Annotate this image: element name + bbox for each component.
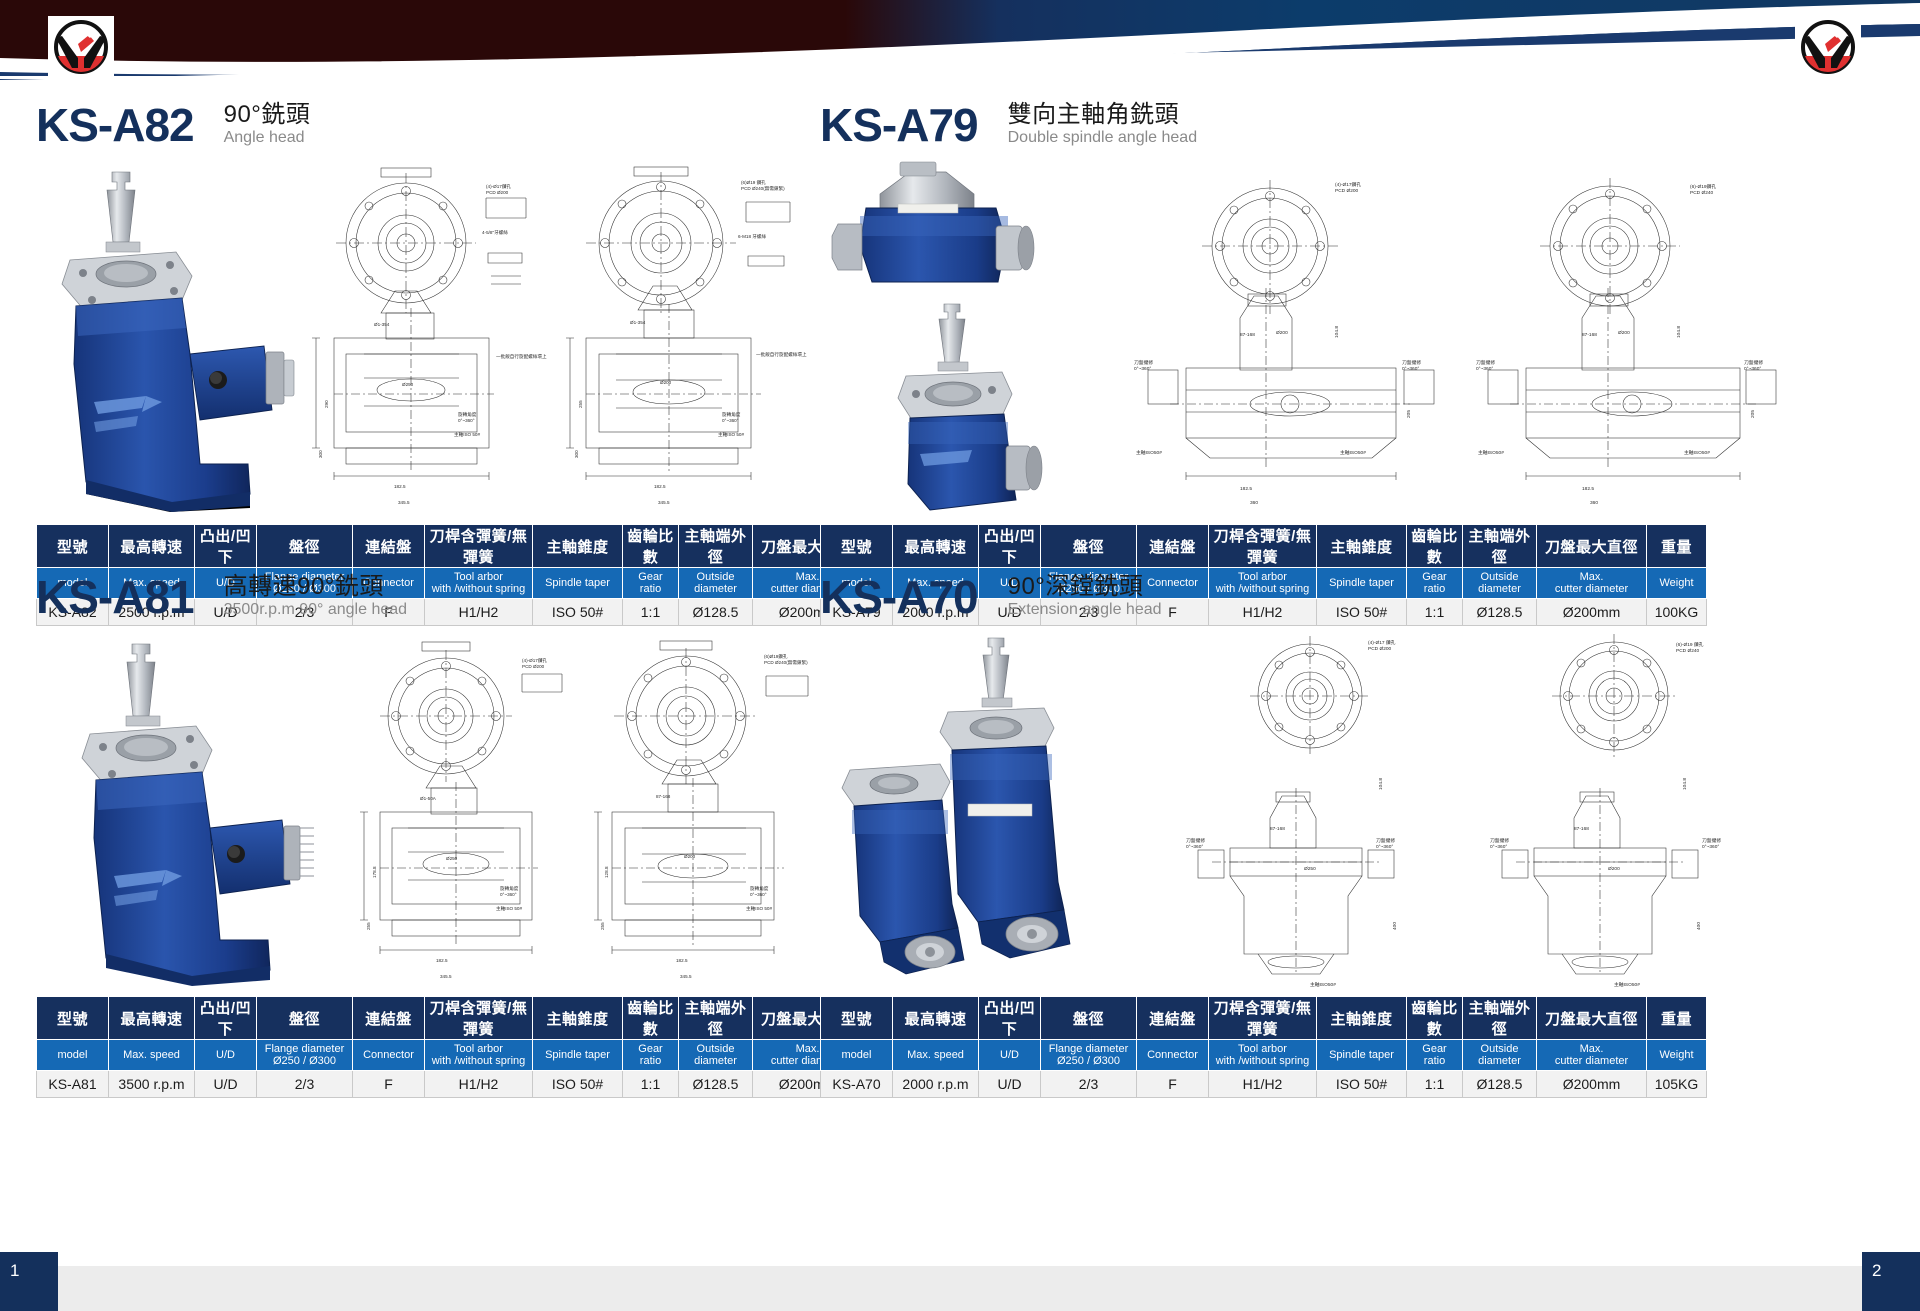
svg-text:Ø200: Ø200 xyxy=(1608,866,1620,872)
svg-text:104.8: 104.8 xyxy=(1334,326,1340,338)
product-title-en: Angle head xyxy=(224,128,311,147)
th-en-toolarbor: Tool arborwith /without spring xyxy=(425,1040,533,1071)
svg-text:刀盤擺修: 刀盤擺修 xyxy=(1744,359,1763,366)
page-number-right: 2 xyxy=(1862,1252,1920,1311)
svg-text:刀盤擺修: 刀盤擺修 xyxy=(1402,359,1421,366)
svg-text:(6)Ø19鑽孔: (6)Ø19鑽孔 xyxy=(764,653,788,660)
th-cn-outside: 主軸端外徑 xyxy=(679,997,753,1040)
cell-connector: F xyxy=(1137,1071,1209,1098)
svg-text:290: 290 xyxy=(324,400,329,408)
svg-text:主軸ISO 50#: 主軸ISO 50# xyxy=(746,905,772,912)
svg-text:Ø250: Ø250 xyxy=(1304,866,1316,872)
svg-text:主軸ISO50#: 主軸ISO50# xyxy=(1310,981,1336,988)
svg-text:主軸ISO50#: 主軸ISO50# xyxy=(1684,449,1710,456)
svg-text:旋轉角度: 旋轉角度 xyxy=(500,885,519,892)
product-photo xyxy=(820,632,1120,988)
cell-flange: 2/3 xyxy=(257,1071,353,1098)
svg-text:主軸ISO 50#: 主軸ISO 50# xyxy=(718,431,744,438)
th-en-model: model xyxy=(821,1040,893,1071)
svg-text:旋轉角度: 旋轉角度 xyxy=(458,411,477,418)
table-header-row-cn: 型號 最高轉速 凸出/凹下 盤徑 連結盤 刀桿含彈簧/無彈簧 主軸錐度 齒輪比數… xyxy=(37,997,923,1040)
svg-text:旋轉角度: 旋轉角度 xyxy=(722,411,741,418)
svg-text:104.8: 104.8 xyxy=(1682,778,1688,790)
svg-text:旋轉角度: 旋轉角度 xyxy=(750,885,769,892)
product-title-row: KS-A79 雙向主軸角銑頭 Double spindle angle head xyxy=(820,88,1890,148)
svg-text:0°~360°: 0°~360° xyxy=(458,418,475,423)
product-block-ks-a70: KS-A70 90°深鏜銑頭 Extension angle head xyxy=(820,560,1890,1098)
svg-text:PCD Ø240: PCD Ø240 xyxy=(1690,190,1714,196)
svg-text:PCD Ø240(無需鎖緊): PCD Ø240(無需鎖緊) xyxy=(764,659,808,666)
svg-text:(4)-Ø17 鑽孔: (4)-Ø17 鑽孔 xyxy=(1368,639,1396,646)
svg-text:Ø200: Ø200 xyxy=(1276,330,1288,336)
cell-model: KS-A81 xyxy=(37,1071,109,1098)
svg-text:87-168: 87-168 xyxy=(1240,332,1255,338)
cell-gear: 1:1 xyxy=(623,1071,679,1098)
cell-maxspeed: 3500 r.p.m xyxy=(109,1071,195,1098)
cell-outside: Ø128.5 xyxy=(1463,1071,1537,1098)
product-block-ks-a79: KS-A79 雙向主軸角銑頭 Double spindle angle head xyxy=(820,88,1890,626)
cell-toolarbor: H1/H2 xyxy=(425,1071,533,1098)
product-title-cn: 高轉速90°銑頭 xyxy=(224,573,407,600)
svg-text:主軸ISO50#: 主軸ISO50# xyxy=(1614,981,1640,988)
svg-text:Ø1-50A: Ø1-50A xyxy=(420,796,437,801)
svg-text:Ø200: Ø200 xyxy=(1618,330,1630,336)
th-en-flange: Flange diameterØ250 / Ø300 xyxy=(257,1040,353,1071)
svg-text:(6)-Ø19 鑽孔: (6)-Ø19 鑽孔 xyxy=(1676,641,1704,648)
svg-text:Ø250: Ø250 xyxy=(402,382,414,387)
svg-text:刀盤擺修: 刀盤擺修 xyxy=(1376,837,1395,844)
svg-text:87-168: 87-168 xyxy=(1574,826,1589,832)
th-en-maxspeed: Max. speed xyxy=(893,1040,979,1071)
svg-text:128.8: 128.8 xyxy=(604,866,609,878)
page-title: KS-A81 xyxy=(36,574,194,620)
svg-text:255: 255 xyxy=(366,922,371,930)
svg-text:0°~360°: 0°~360° xyxy=(722,418,739,423)
svg-text:205: 205 xyxy=(1750,410,1756,418)
svg-text:主軸ISO50#: 主軸ISO50# xyxy=(1478,449,1504,456)
th-en-outside: Outsidediameter xyxy=(1463,1040,1537,1071)
th-cn-connector: 連結盤 xyxy=(1137,997,1209,1040)
svg-text:主軸ISO50#: 主軸ISO50# xyxy=(1340,449,1366,456)
th-cn-toolarbor: 刀桿含彈簧/無彈簧 xyxy=(1209,997,1317,1040)
svg-text:0°~360°: 0°~360° xyxy=(1490,844,1507,850)
cell-ud: U/D xyxy=(979,1071,1041,1098)
table-header-row-en: model Max. speed U/D Flange diameterØ250… xyxy=(821,1040,1707,1071)
svg-text:360: 360 xyxy=(1590,500,1598,506)
svg-text:PCD Ø200: PCD Ø200 xyxy=(1335,188,1359,194)
svg-text:PCD Ø200: PCD Ø200 xyxy=(1368,646,1392,652)
checkmark-circle-logo-icon xyxy=(48,16,114,78)
page-number-left-text: 1 xyxy=(10,1261,19,1281)
svg-text:PCD Ø200: PCD Ø200 xyxy=(486,190,509,195)
svg-text:PCD Ø240: PCD Ø240 xyxy=(1676,648,1700,654)
svg-text:刀盤擺修: 刀盤擺修 xyxy=(1476,359,1495,366)
table-row: KS-A70 2000 r.p.m U/D 2/3 F H1/H2 ISO 50… xyxy=(821,1071,1707,1098)
th-cn-ud: 凸出/凹下 xyxy=(979,997,1041,1040)
svg-text:0°~360°: 0°~360° xyxy=(1134,366,1151,372)
svg-text:刀盤擺修: 刀盤擺修 xyxy=(1134,359,1153,366)
th-cn-gear: 齒輪比數 xyxy=(623,997,679,1040)
th-en-connector: Connector xyxy=(1137,1040,1209,1071)
th-cn-connector: 連結盤 xyxy=(353,997,425,1040)
svg-text:87-168: 87-168 xyxy=(656,794,671,799)
th-cn-gear: 齒輪比數 xyxy=(1407,997,1463,1040)
th-en-flange: Flange diameterØ250 / Ø300 xyxy=(1041,1040,1137,1071)
page-number-right-text: 2 xyxy=(1872,1261,1881,1281)
product-title-text: 雙向主軸角銑頭 Double spindle angle head xyxy=(1008,101,1197,148)
checkmark-circle-logo-icon xyxy=(1795,16,1861,78)
svg-text:400: 400 xyxy=(1392,922,1398,930)
th-en-maxspeed: Max. speed xyxy=(109,1040,195,1071)
svg-text:(6)Ø19 鑽孔: (6)Ø19 鑽孔 xyxy=(741,179,766,186)
cell-connector: F xyxy=(353,1071,425,1098)
svg-text:255: 255 xyxy=(578,400,583,408)
product-block-ks-a81: KS-A81 高轉速90°銑頭 3500r.p.m 90° angle head xyxy=(36,560,866,1098)
svg-text:0°~360°: 0°~360° xyxy=(1744,366,1761,372)
product-block-ks-a82: KS-A82 90°銑頭 Angle head xyxy=(36,88,866,626)
page-footer xyxy=(0,1266,1920,1311)
technical-drawing-bottom: (4)-Ø17 鑽孔PCD Ø200 (6)-Ø19 鑽孔PCD Ø240 刀盤… xyxy=(1120,630,1890,990)
svg-text:刀盤擺修: 刀盤擺修 xyxy=(1702,837,1721,844)
product-title-cn: 90°深鏜銑頭 xyxy=(1008,573,1162,600)
svg-text:4-5/8"牙螺絲: 4-5/8"牙螺絲 xyxy=(482,229,508,236)
company-logo-left xyxy=(48,16,114,78)
svg-text:345.5: 345.5 xyxy=(398,500,410,505)
cell-taper: ISO 50# xyxy=(533,1071,623,1098)
svg-text:182.5: 182.5 xyxy=(1582,486,1594,492)
th-cn-cutter: 刀盤最大直徑 xyxy=(1537,997,1647,1040)
svg-text:87-168: 87-168 xyxy=(1270,826,1285,832)
svg-text:刀盤擺修: 刀盤擺修 xyxy=(1490,837,1509,844)
cell-maxspeed: 2000 r.p.m xyxy=(893,1071,979,1098)
svg-text:Ø200: Ø200 xyxy=(684,854,696,859)
product-title-row: KS-A81 高轉速90°銑頭 3500r.p.m 90° angle head xyxy=(36,560,866,620)
figure-area: (4)-Ø17鑽孔PCD Ø200 (6)-Ø19鑽孔PCD Ø240 182.… xyxy=(820,154,1890,522)
header-swoosh xyxy=(0,0,1920,80)
svg-text:PCD Ø200: PCD Ø200 xyxy=(522,664,545,669)
th-en-weight: Weight xyxy=(1647,1040,1707,1071)
product-photo xyxy=(820,154,1100,514)
th-en-taper: Spindle taper xyxy=(533,1040,623,1071)
svg-text:178.8: 178.8 xyxy=(372,866,377,878)
th-cn-model: 型號 xyxy=(821,997,893,1040)
svg-text:Ø250: Ø250 xyxy=(446,856,458,861)
th-cn-weight: 重量 xyxy=(1647,997,1707,1040)
cell-ud: U/D xyxy=(195,1071,257,1098)
table-header-row-cn: 型號 最高轉速 凸出/凹下 盤徑 連結盤 刀桿含彈簧/無彈簧 主軸錐度 齒輪比數… xyxy=(821,997,1707,1040)
cell-taper: ISO 50# xyxy=(1317,1071,1407,1098)
svg-text:0°~360°: 0°~360° xyxy=(1476,366,1493,372)
th-en-gear: Gearratio xyxy=(1407,1040,1463,1071)
th-en-toolarbor: Tool arborwith /without spring xyxy=(1209,1040,1317,1071)
svg-text:PCD Ø240(無需鎖緊): PCD Ø240(無需鎖緊) xyxy=(741,185,785,192)
product-title-text: 高轉速90°銑頭 3500r.p.m 90° angle head xyxy=(224,573,407,620)
spec-table-ks-a70: 型號 最高轉速 凸出/凹下 盤徑 連結盤 刀桿含彈簧/無彈簧 主軸錐度 齒輪比數… xyxy=(820,996,1707,1098)
svg-text:360: 360 xyxy=(1250,500,1258,506)
technical-drawing-top: (4)-Ø17鑽孔PCD Ø200 (6)Ø19 鑽孔PCD Ø240(無需鎖緊… xyxy=(286,158,846,518)
th-en-outside: Outsidediameter xyxy=(679,1040,753,1071)
svg-text:182.5: 182.5 xyxy=(654,484,666,489)
company-logo-right xyxy=(1795,16,1861,78)
product-title-en: Double spindle angle head xyxy=(1008,128,1197,147)
svg-text:主軸ISO 50#: 主軸ISO 50# xyxy=(496,905,522,912)
svg-text:0°~360°: 0°~360° xyxy=(1376,844,1393,850)
figure-area: (4)-Ø17鑽孔PCD Ø200 (6)Ø19鑽孔PCD Ø240(無需鎖緊)… xyxy=(36,626,866,994)
technical-drawing-bottom: (4)-Ø17鑽孔PCD Ø200 (6)Ø19鑽孔PCD Ø240(無需鎖緊)… xyxy=(336,630,856,990)
cell-toolarbor: H1/H2 xyxy=(1209,1071,1317,1098)
svg-text:182.5: 182.5 xyxy=(676,958,688,963)
product-title-en: Extension angle head xyxy=(1008,600,1162,619)
th-en-gear: Gearratio xyxy=(623,1040,679,1071)
figure-area: (4)-Ø17鑽孔PCD Ø200 (6)Ø19 鑽孔PCD Ø240(無需鎖緊… xyxy=(36,154,866,522)
page-title: KS-A70 xyxy=(820,574,978,620)
page-number-left: 1 xyxy=(0,1252,58,1311)
technical-drawing-top: (4)-Ø17鑽孔PCD Ø200 (6)-Ø19鑽孔PCD Ø240 182.… xyxy=(1090,158,1890,518)
cell-cutter: Ø200mm xyxy=(1537,1071,1647,1098)
svg-text:0°~360°: 0°~360° xyxy=(500,892,517,897)
svg-text:主軸ISO50#: 主軸ISO50# xyxy=(1136,449,1162,456)
svg-text:(4)-Ø17鑽孔: (4)-Ø17鑽孔 xyxy=(1335,181,1361,188)
cell-outside: Ø128.5 xyxy=(679,1071,753,1098)
spec-table-ks-a81: 型號 最高轉速 凸出/凹下 盤徑 連結盤 刀桿含彈簧/無彈簧 主軸錐度 齒輪比數… xyxy=(36,996,923,1098)
product-title-cn: 90°銑頭 xyxy=(224,101,311,128)
product-photo xyxy=(70,640,320,988)
svg-text:300: 300 xyxy=(318,450,323,458)
table-row: KS-A81 3500 r.p.m U/D 2/3 F H1/H2 ISO 50… xyxy=(37,1071,923,1098)
cell-flange: 2/3 xyxy=(1041,1071,1137,1098)
th-cn-ud: 凸出/凹下 xyxy=(195,997,257,1040)
product-title-cn: 雙向主軸角銑頭 xyxy=(1008,101,1197,128)
svg-text:一批飯自行旋配螺絲環上: 一批飯自行旋配螺絲環上 xyxy=(496,353,547,360)
svg-text:182.5: 182.5 xyxy=(1240,486,1252,492)
svg-text:255: 255 xyxy=(600,922,605,930)
svg-text:0°~360°: 0°~360° xyxy=(1402,366,1419,372)
th-cn-flange: 盤徑 xyxy=(257,997,353,1040)
th-en-ud: U/D xyxy=(195,1040,257,1071)
svg-text:一批飯自行旋配螺絲環上: 一批飯自行旋配螺絲環上 xyxy=(756,351,807,358)
th-en-connector: Connector xyxy=(353,1040,425,1071)
svg-text:104.8: 104.8 xyxy=(1676,326,1682,338)
th-en-ud: U/D xyxy=(979,1040,1041,1071)
th-en-model: model xyxy=(37,1040,109,1071)
svg-text:205: 205 xyxy=(1406,410,1412,418)
svg-text:300: 300 xyxy=(574,450,579,458)
header-divider xyxy=(0,76,1920,79)
th-cn-taper: 主軸錐度 xyxy=(533,997,623,1040)
svg-text:345.5: 345.5 xyxy=(680,974,692,979)
th-cn-taper: 主軸錐度 xyxy=(1317,997,1407,1040)
th-en-taper: Spindle taper xyxy=(1317,1040,1407,1071)
cell-weight: 105KG xyxy=(1647,1071,1707,1098)
product-title-row: KS-A82 90°銑頭 Angle head xyxy=(36,88,866,148)
page-title: KS-A79 xyxy=(820,102,978,148)
svg-text:104.8: 104.8 xyxy=(1378,778,1384,790)
th-cn-maxspeed: 最高轉速 xyxy=(109,997,195,1040)
table-header-row-en: model Max. speed U/D Flange diameterØ250… xyxy=(37,1040,923,1071)
svg-text:Ø1-354: Ø1-354 xyxy=(630,320,646,325)
svg-text:182.5: 182.5 xyxy=(436,958,448,963)
svg-text:主軸ISO 50#: 主軸ISO 50# xyxy=(454,431,480,438)
product-title-en: 3500r.p.m 90° angle head xyxy=(224,600,407,619)
svg-text:345.5: 345.5 xyxy=(658,500,670,505)
svg-text:Ø200: Ø200 xyxy=(660,380,672,385)
svg-text:0°~360°: 0°~360° xyxy=(1186,844,1203,850)
th-cn-maxspeed: 最高轉速 xyxy=(893,997,979,1040)
product-title-text: 90°深鏜銑頭 Extension angle head xyxy=(1008,573,1162,620)
svg-text:6-M18 牙螺絲: 6-M18 牙螺絲 xyxy=(738,233,766,240)
svg-text:0°~360°: 0°~360° xyxy=(750,892,767,897)
svg-text:182.5: 182.5 xyxy=(394,484,406,489)
page-title: KS-A82 xyxy=(36,102,194,148)
svg-text:Ø1-354: Ø1-354 xyxy=(374,322,390,327)
svg-text:345.5: 345.5 xyxy=(440,974,452,979)
product-title-text: 90°銑頭 Angle head xyxy=(224,101,311,148)
th-en-cutter: Max.cutter diameter xyxy=(1537,1040,1647,1071)
th-cn-flange: 盤徑 xyxy=(1041,997,1137,1040)
svg-text:刀盤擺修: 刀盤擺修 xyxy=(1186,837,1205,844)
page-header xyxy=(0,0,1920,80)
svg-text:87-168: 87-168 xyxy=(1582,332,1597,338)
th-cn-toolarbor: 刀桿含彈簧/無彈簧 xyxy=(425,997,533,1040)
cell-model: KS-A70 xyxy=(821,1071,893,1098)
product-photo xyxy=(50,164,300,512)
svg-text:(4)-Ø17鑽孔: (4)-Ø17鑽孔 xyxy=(522,657,547,664)
cell-gear: 1:1 xyxy=(1407,1071,1463,1098)
figure-area: (4)-Ø17 鑽孔PCD Ø200 (6)-Ø19 鑽孔PCD Ø240 刀盤… xyxy=(820,626,1890,994)
th-cn-outside: 主軸端外徑 xyxy=(1463,997,1537,1040)
svg-text:0°~360°: 0°~360° xyxy=(1702,844,1719,850)
svg-text:(6)-Ø19鑽孔: (6)-Ø19鑽孔 xyxy=(1690,183,1716,190)
svg-text:(4)-Ø17鑽孔: (4)-Ø17鑽孔 xyxy=(486,183,511,190)
product-title-row: KS-A70 90°深鏜銑頭 Extension angle head xyxy=(820,560,1890,620)
th-cn-model: 型號 xyxy=(37,997,109,1040)
svg-text:400: 400 xyxy=(1696,922,1702,930)
